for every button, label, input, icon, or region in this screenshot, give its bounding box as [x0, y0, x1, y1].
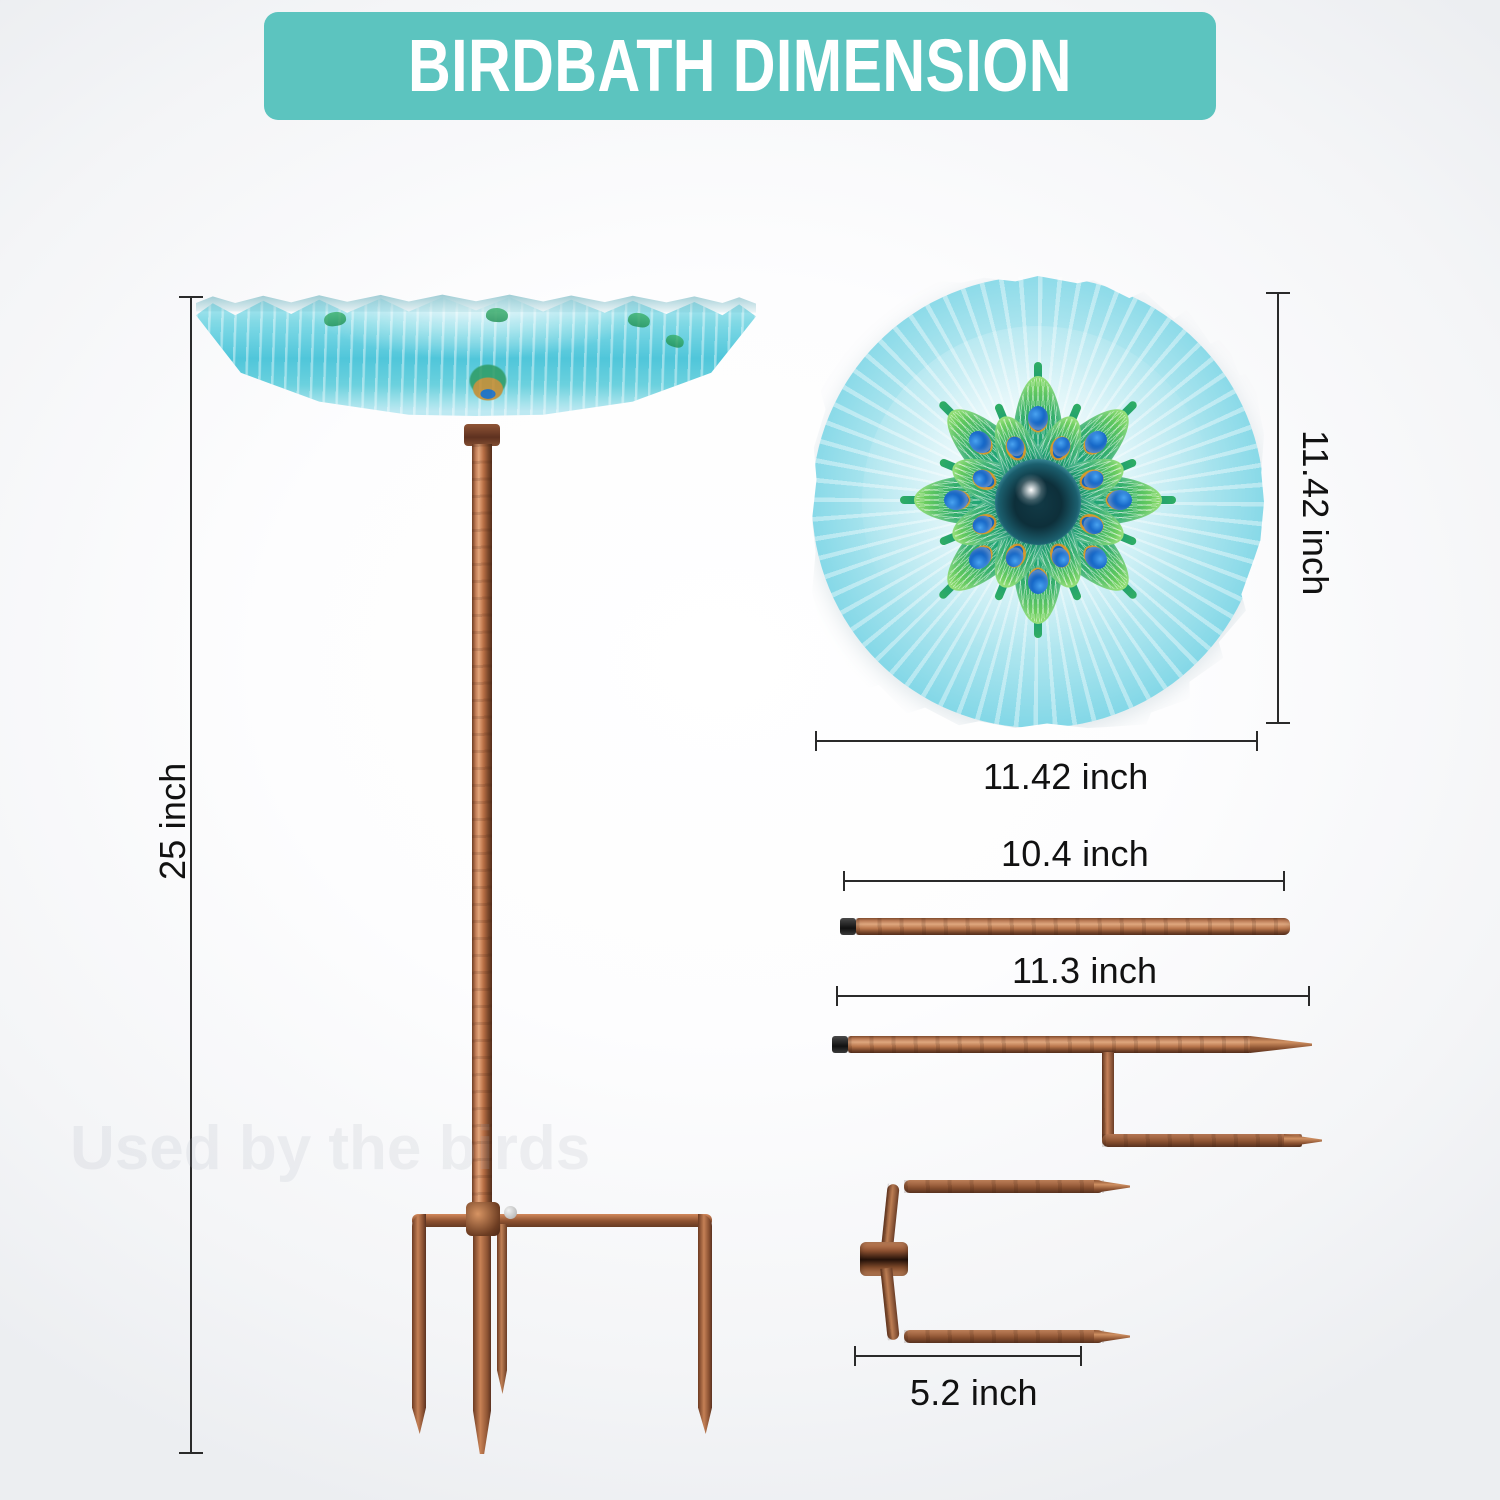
fork-prong-left: [412, 1214, 426, 1434]
rod-body: [848, 1036, 1252, 1053]
bracket-top-tip: [1094, 1180, 1130, 1193]
prong-pointed-tip: [1284, 1134, 1322, 1147]
bracket-lower-leg: [880, 1268, 899, 1341]
dimension-label-rod-upper: 10.4 inch: [1001, 833, 1149, 875]
dimension-line-rod-upper: [843, 880, 1285, 882]
plate-center-hub: [995, 459, 1081, 545]
page-title: BIRDBATH DIMENSION: [408, 29, 1072, 103]
pole-shaft: [472, 444, 492, 1234]
fork-screw-icon: [504, 1206, 517, 1219]
bracket-bottom-tip: [1094, 1330, 1130, 1343]
pole-and-fork-assembly: [452, 424, 682, 1464]
prong-horizontal-segment: [1102, 1134, 1302, 1147]
rod-body: [856, 918, 1290, 935]
rod-pointed-tip: [1250, 1036, 1312, 1053]
dimension-label-rod-lower: 11.3 inch: [1012, 950, 1157, 992]
fork-crossbar: [412, 1214, 712, 1227]
part-straight-rod: [840, 916, 1290, 938]
bracket-bottom-arm: [904, 1330, 1104, 1343]
dimension-line-bowl-height: [1277, 292, 1279, 724]
dimension-line-rod-lower: [836, 995, 1310, 997]
fork-joint-knot: [466, 1202, 500, 1236]
prong-vertical-segment: [1102, 1052, 1114, 1144]
dimension-label-bowl-width: 11.42 inch: [983, 756, 1148, 798]
rod-end-cap: [840, 918, 856, 935]
dimension-line-bowl-width: [815, 740, 1258, 742]
fork-prong-right: [698, 1214, 712, 1434]
birdbath-bowl-top-view: [812, 276, 1264, 728]
dimension-line-bracket-width: [854, 1355, 1082, 1357]
bracket-top-arm: [904, 1180, 1104, 1193]
fork-prong-short: [497, 1224, 507, 1394]
header-banner: BIRDBATH DIMENSION: [264, 12, 1216, 120]
pole-collar: [464, 424, 500, 446]
rod-end-cap: [832, 1036, 848, 1053]
dimension-label-bracket-width: 5.2 inch: [910, 1372, 1038, 1414]
dimension-label-total-height: 25 inch: [152, 763, 194, 881]
dimension-label-bowl-height: 11.42 inch: [1294, 430, 1336, 595]
part-rod-with-prong: [832, 1030, 1312, 1160]
peacock-eye-motif: [458, 358, 518, 408]
birdbath-bowl-side-view: [196, 288, 756, 434]
part-c-bracket: [846, 1180, 1126, 1350]
bowl-feather-accent: [486, 307, 509, 323]
fork-prong-center: [473, 1214, 491, 1454]
